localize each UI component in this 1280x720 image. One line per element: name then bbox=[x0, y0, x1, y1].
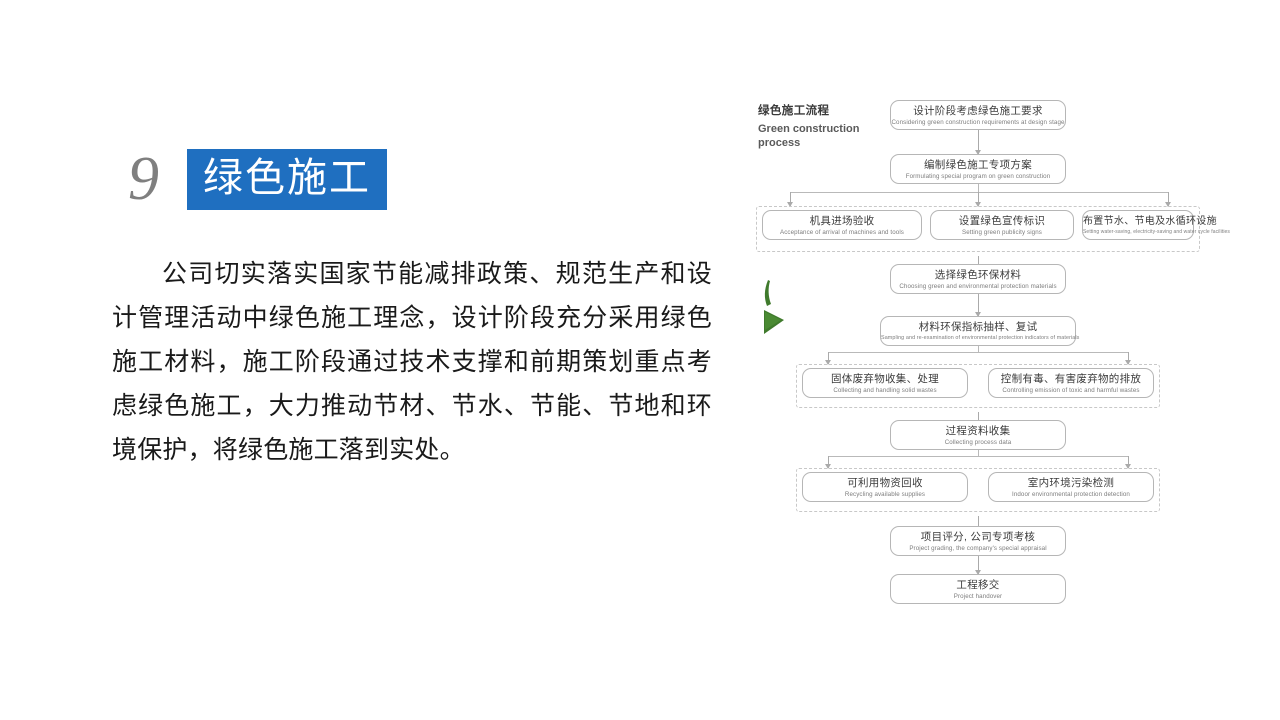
connector-line bbox=[828, 352, 1128, 353]
connector-arrow bbox=[978, 130, 979, 154]
flow-node-label-en: Recycling available supplies bbox=[803, 490, 967, 499]
flow-node-label-cn: 设计阶段考虑绿色施工要求 bbox=[891, 105, 1065, 118]
flow-node-label-en: Controlling emission of toxic and harmfu… bbox=[989, 386, 1153, 395]
flow-node-label-en: Considering green construction requireme… bbox=[891, 118, 1065, 127]
connector-line bbox=[790, 192, 1168, 193]
flow-node-label-en: Indoor environmental protection detectio… bbox=[989, 490, 1153, 499]
flow-node-label-en: Setting green publicity signs bbox=[931, 228, 1073, 237]
body-paragraph: 公司切实落实国家节能减排政策、规范生产和设计管理活动中绿色施工理念，设计阶段充分… bbox=[112, 252, 712, 472]
flow-node-label-en: Setting water-saving, electricity-saving… bbox=[1083, 228, 1193, 237]
flow-node-label-en: Collecting and handling solid wastes bbox=[803, 386, 967, 395]
flow-node-publicity-signs[interactable]: 设置绿色宣传标识 Setting green publicity signs bbox=[930, 210, 1074, 240]
connector-arrow bbox=[978, 556, 979, 574]
flow-node-machine-acceptance[interactable]: 机具进场验收 Acceptance of arrival of machines… bbox=[762, 210, 922, 240]
flowchart-heading-en: Green construction process bbox=[758, 123, 888, 150]
connector-arrow bbox=[978, 294, 979, 316]
flow-node-indoor-detection[interactable]: 室内环境污染检测 Indoor environmental protection… bbox=[988, 472, 1154, 502]
flow-node-label-en: Sampling and re-examination of environme… bbox=[881, 334, 1075, 343]
flow-node-material-sampling[interactable]: 材料环保指标抽样、复试 Sampling and re-examination … bbox=[880, 316, 1076, 346]
flow-node-label-cn: 选择绿色环保材料 bbox=[891, 269, 1065, 282]
flow-node-label-cn: 工程移交 bbox=[891, 579, 1065, 592]
flow-node-project-handover[interactable]: 工程移交 Project handover bbox=[890, 574, 1066, 604]
flow-node-special-program[interactable]: 编制绿色施工专项方案 Formulating special program o… bbox=[890, 154, 1066, 184]
flow-node-recycling[interactable]: 可利用物资回收 Recycling available supplies bbox=[802, 472, 968, 502]
flow-node-label-cn: 控制有毒、有害废弃物的排放 bbox=[989, 373, 1153, 386]
connector-arrow bbox=[1168, 192, 1169, 206]
flow-node-label-cn: 设置绿色宣传标识 bbox=[931, 215, 1073, 228]
flow-node-water-electricity-facilities[interactable]: 布置节水、节电及水循环设施 Setting water-saving, elec… bbox=[1082, 210, 1194, 240]
flow-node-label-en: Project handover bbox=[891, 592, 1065, 601]
leaf-icon bbox=[754, 276, 790, 340]
flow-node-project-grading[interactable]: 项目评分, 公司专项考核 Project grading, the compan… bbox=[890, 526, 1066, 556]
flow-node-label-cn: 可利用物资回收 bbox=[803, 477, 967, 490]
flow-node-label-cn: 编制绿色施工专项方案 bbox=[891, 159, 1065, 172]
flow-node-label-en: Formulating special program on green con… bbox=[891, 172, 1065, 181]
connector-arrow bbox=[828, 456, 829, 468]
flow-node-label-en: Choosing green and environmental protect… bbox=[891, 282, 1065, 291]
connector-arrow bbox=[828, 352, 829, 364]
left-content-column: 9 绿色施工 公司切实落实国家节能减排政策、规范生产和设计管理活动中绿色施工理念… bbox=[0, 0, 740, 720]
flow-node-process-data[interactable]: 过程资料收集 Collecting process data bbox=[890, 420, 1066, 450]
slide-title-row: 9 绿色施工 bbox=[128, 148, 387, 210]
flow-node-label-cn: 项目评分, 公司专项考核 bbox=[891, 531, 1065, 544]
connector-line bbox=[828, 456, 1128, 457]
flow-node-label-en: Acceptance of arrival of machines and to… bbox=[763, 228, 921, 237]
flow-node-label-cn: 固体废弃物收集、处理 bbox=[803, 373, 967, 386]
connector-arrow bbox=[1128, 456, 1129, 468]
green-construction-flowchart: 绿色施工流程 Green construction process 设计阶段考虑… bbox=[748, 96, 1208, 616]
connector-line bbox=[978, 184, 979, 192]
connector-arrow bbox=[1128, 352, 1129, 364]
flow-node-label-cn: 材料环保指标抽样、复试 bbox=[881, 321, 1075, 334]
flow-node-solid-waste[interactable]: 固体废弃物收集、处理 Collecting and handling solid… bbox=[802, 368, 968, 398]
flow-node-label-en: Project grading, the company's special a… bbox=[891, 544, 1065, 553]
flow-node-green-materials[interactable]: 选择绿色环保材料 Choosing green and environmenta… bbox=[890, 264, 1066, 294]
flow-node-label-cn: 机具进场验收 bbox=[763, 215, 921, 228]
flow-node-label-en: Collecting process data bbox=[891, 438, 1065, 447]
page-title: 绿色施工 bbox=[187, 149, 387, 210]
flow-node-label-cn: 过程资料收集 bbox=[891, 425, 1065, 438]
flow-node-label-cn: 室内环境污染检测 bbox=[989, 477, 1153, 490]
connector-arrow bbox=[978, 192, 979, 206]
connector-arrow bbox=[790, 192, 791, 206]
flow-node-toxic-waste[interactable]: 控制有毒、有害废弃物的排放 Controlling emission of to… bbox=[988, 368, 1154, 398]
slide-number: 9 bbox=[128, 148, 187, 210]
flowchart-heading: 绿色施工流程 Green construction process bbox=[758, 104, 888, 150]
flowchart-heading-cn: 绿色施工流程 bbox=[758, 104, 888, 119]
flow-node-label-cn: 布置节水、节电及水循环设施 bbox=[1083, 215, 1193, 228]
flow-node-design-stage[interactable]: 设计阶段考虑绿色施工要求 Considering green construct… bbox=[890, 100, 1066, 130]
